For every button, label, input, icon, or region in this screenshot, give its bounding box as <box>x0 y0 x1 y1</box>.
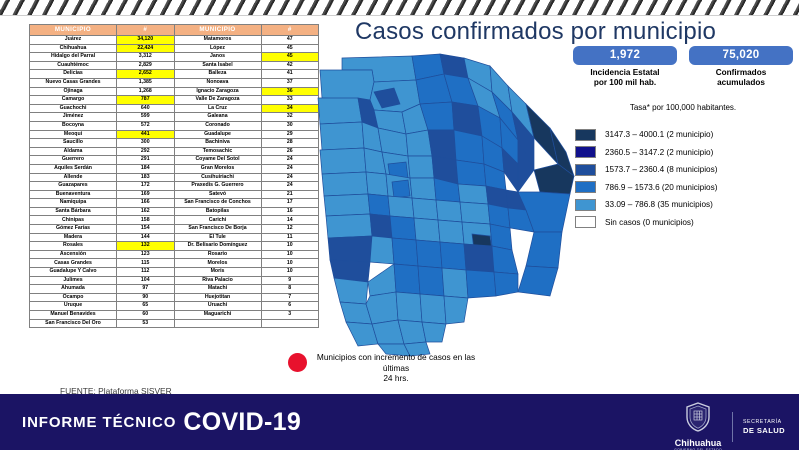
table-row: Gómez Farías154San Francisco De Borja12 <box>30 225 319 234</box>
map-region <box>466 270 496 298</box>
legend-label: 1573.7 – 2360.4 (8 municipios) <box>605 165 717 174</box>
cell-municipio-left: Allende <box>30 173 117 182</box>
cell-municipio-left: Cuauhtémoc <box>30 61 117 70</box>
cell-count-right: 16 <box>261 207 319 216</box>
map-region <box>518 266 558 296</box>
banner-title: INFORME TÉCNICOCOVID-19 <box>22 408 301 437</box>
table-row: Nuevo Casas Grandes1,385Nonoava37 <box>30 78 319 87</box>
cell-count-left: 300 <box>117 139 175 148</box>
cell-count-left: 154 <box>117 225 175 234</box>
cell-count-left: 787 <box>117 96 175 105</box>
cell-municipio-right: Coronado <box>174 121 261 130</box>
map-region <box>442 268 468 298</box>
table-row: Guadalupe Y Calvo112Moris10 <box>30 268 319 277</box>
cell-municipio-right: Batopilas <box>174 207 261 216</box>
cell-count-left: 115 <box>117 259 175 268</box>
cell-count-right: 8 <box>261 285 319 294</box>
map-region <box>456 160 486 186</box>
government-logo-group: Chihuahua GOBIERNO DEL ESTADO SECRETARÍA… <box>674 402 785 450</box>
cell-municipio-left: Chihuahua <box>30 44 117 53</box>
municipality-case-table: MUNICIPIO # MUNICIPIO # Juárez34,120Mata… <box>29 24 318 328</box>
cell-municipio-left: Hidalgo del Parral <box>30 53 117 62</box>
cell-municipio-right: Matamoros <box>174 36 261 45</box>
table-row: Julimes104Riva Palacio9 <box>30 276 319 285</box>
cell-municipio-right: Galeana <box>174 113 261 122</box>
cell-municipio-left: Guerrero <box>30 156 117 165</box>
cell-municipio-right: Matachi <box>174 285 261 294</box>
table-row: Jiménez599Galeana32 <box>30 113 319 122</box>
cell-municipio-left: Gómez Farías <box>30 225 117 234</box>
cell-municipio-right: Praxedis G. Guerrero <box>174 182 261 191</box>
map-region <box>394 264 420 294</box>
cell-count-right: 9 <box>261 276 319 285</box>
cell-count-left: 60 <box>117 311 175 320</box>
cell-municipio-right <box>174 319 261 328</box>
stat-confirmados: 75,020 Confirmados acumulados <box>689 46 793 88</box>
table-row: Guazapares172Praxedis G. Guerrero24 <box>30 182 319 191</box>
table-row: Uruque65Uruachi6 <box>30 302 319 311</box>
cell-count-left: 1,385 <box>117 78 175 87</box>
cell-count-right: 7 <box>261 293 319 302</box>
table-row: Juárez34,120Matamoros47 <box>30 36 319 45</box>
cell-municipio-left: Aquiles Serdán <box>30 164 117 173</box>
cell-municipio-left: Namiquipa <box>30 199 117 208</box>
column-header-municipio-right: MUNICIPIO <box>174 25 261 36</box>
cell-count-left: 158 <box>117 216 175 225</box>
cell-count-left: 441 <box>117 130 175 139</box>
column-header-municipio-left: MUNICIPIO <box>30 25 117 36</box>
stat-incidencia-value: 1,972 <box>573 46 677 65</box>
cell-municipio-right: Maguarichi <box>174 311 261 320</box>
cell-municipio-left: Aldama <box>30 147 117 156</box>
cell-municipio-left: Uruque <box>30 302 117 311</box>
cell-count-right: 17 <box>261 199 319 208</box>
map-region <box>410 178 436 200</box>
cell-count-left: 34,120 <box>117 36 175 45</box>
decorative-striped-ribbon <box>0 0 799 16</box>
map-region <box>326 214 372 238</box>
cell-municipio-left: Nuevo Casas Grandes <box>30 78 117 87</box>
cell-count-left: 2,829 <box>117 61 175 70</box>
cell-municipio-left: Juárez <box>30 36 117 45</box>
cell-count-right: 14 <box>261 216 319 225</box>
map-region <box>526 232 562 268</box>
stats-group: 1,972 Incidencia Estatal por 100 mil hab… <box>573 46 793 88</box>
cell-count-left: 640 <box>117 104 175 113</box>
cell-count-left: 104 <box>117 276 175 285</box>
cell-municipio-left: Ascensión <box>30 250 117 259</box>
cell-count-left: 90 <box>117 293 175 302</box>
table-row: Guachochi640La Cruz34 <box>30 104 319 113</box>
column-header-count-right: # <box>261 25 319 36</box>
cell-municipio-left: Santa Bárbara <box>30 207 117 216</box>
table-row: Ojinaga1,268Ignacio Zaragoza36 <box>30 87 319 96</box>
cell-count-left: 166 <box>117 199 175 208</box>
cell-municipio-right: San Francisco De Borja <box>174 225 261 234</box>
red-dot-icon <box>288 353 307 372</box>
map-region <box>328 236 372 262</box>
cell-count-left: 183 <box>117 173 175 182</box>
cell-count-left: 184 <box>117 164 175 173</box>
table-row: Bocoyna572Coronado30 <box>30 121 319 130</box>
cell-count-left: 65 <box>117 302 175 311</box>
table-row: Aquiles Serdán184Gran Morelos24 <box>30 164 319 173</box>
table-row: Allende183Cusihuiriachi24 <box>30 173 319 182</box>
cell-count-left: 169 <box>117 190 175 199</box>
map-region <box>366 292 398 324</box>
map-region <box>334 278 368 304</box>
cell-count-left: 162 <box>117 207 175 216</box>
table-row: Cuauhtémoc2,829Santa Isabel42 <box>30 61 319 70</box>
table-row: Chihuahua22,424López45 <box>30 44 319 53</box>
secretaria-line-1: SECRETARÍA <box>743 419 785 426</box>
map-region <box>322 172 368 196</box>
map-region <box>318 98 362 124</box>
map-region <box>416 240 442 268</box>
cell-count-left: 132 <box>117 242 175 251</box>
table-row: Namiquipa166San Francisco de Conchos17 <box>30 199 319 208</box>
table-row: Ocampo90Huejotitan7 <box>30 293 319 302</box>
cell-count-left: 1,268 <box>117 87 175 96</box>
cell-municipio-right: Guadalupe <box>174 130 261 139</box>
table-row: Santa Bárbara162Batopilas16 <box>30 207 319 216</box>
table-row: Aldama292Temosachic26 <box>30 147 319 156</box>
cell-count-right: 34 <box>261 104 319 113</box>
map-region <box>406 130 432 156</box>
cell-municipio-right: Uruachi <box>174 302 261 311</box>
table: MUNICIPIO # MUNICIPIO # Juárez34,120Mata… <box>29 24 319 328</box>
cell-count-right: 41 <box>261 70 319 79</box>
cell-count-left: 291 <box>117 156 175 165</box>
cell-municipio-right: Satevó <box>174 190 261 199</box>
increment-note: Municipios con incremento de casos en la… <box>288 352 482 384</box>
table-row: Meoqui441Guadalupe29 <box>30 130 319 139</box>
legend-label: Sin casos (0 municipios) <box>605 218 694 227</box>
logo-divider <box>732 412 733 442</box>
cell-count-right: 6 <box>261 302 319 311</box>
table-row: Camargo787Valle De Zaragoza33 <box>30 96 319 105</box>
banner-title-big: COVID-19 <box>183 408 301 436</box>
cell-municipio-left: Guazapares <box>30 182 117 191</box>
rate-footnote: Tasa* por 100,000 habitantes. <box>573 103 793 112</box>
table-header-row: MUNICIPIO # MUNICIPIO # <box>30 25 319 36</box>
map-region <box>458 184 488 204</box>
bottom-banner: INFORME TÉCNICOCOVID-19 Chihuahua GOBIER… <box>0 394 799 450</box>
cell-count-right: 24 <box>261 182 319 191</box>
stat-confirmados-value: 75,020 <box>689 46 793 65</box>
cell-count-right: 12 <box>261 225 319 234</box>
cell-municipio-right: Dr. Belisario Domínguez <box>174 242 261 251</box>
stat-confirmados-caption-2: acumulados <box>689 78 793 88</box>
chihuahua-shield-logo: Chihuahua GOBIERNO DEL ESTADO <box>674 402 722 450</box>
table-row: San Francisco Del Oro53 <box>30 319 319 328</box>
map-region <box>366 172 388 196</box>
map-region <box>320 148 366 174</box>
cell-municipio-right: El Tule <box>174 233 261 242</box>
cell-count-right: 10 <box>261 242 319 251</box>
cell-count-left: 53 <box>117 319 175 328</box>
map-region <box>414 218 440 242</box>
cell-count-right: 26 <box>261 147 319 156</box>
map-region <box>324 194 370 216</box>
cell-municipio-right: Bachiniva <box>174 139 261 148</box>
legend-item: 33.09 – 786.8 (35 municipios) <box>575 196 717 214</box>
cell-municipio-left: Saucillo <box>30 139 117 148</box>
cell-municipio-left: Bocoyna <box>30 121 117 130</box>
table-row: Ascensión123Rosario10 <box>30 250 319 259</box>
cell-count-right: 3 <box>261 311 319 320</box>
stat-incidencia: 1,972 Incidencia Estatal por 100 mil hab… <box>573 46 677 88</box>
cell-count-right: 10 <box>261 268 319 277</box>
cell-municipio-left: Meoqui <box>30 130 117 139</box>
cell-count-left: 172 <box>117 182 175 191</box>
cell-count-left: 22,424 <box>117 44 175 53</box>
cell-municipio-left: Camargo <box>30 96 117 105</box>
table-row: Madera144El Tule11 <box>30 233 319 242</box>
cell-municipio-right: López <box>174 44 261 53</box>
cell-municipio-left: Guachochi <box>30 104 117 113</box>
map-region <box>418 266 444 296</box>
cell-count-left: 144 <box>117 233 175 242</box>
map-region <box>388 196 414 218</box>
banner-title-small: INFORME TÉCNICO <box>22 414 176 431</box>
cell-municipio-right: Moris <box>174 268 261 277</box>
cell-municipio-left: Manuel Benavides <box>30 311 117 320</box>
map-region <box>438 220 464 244</box>
cell-count-left: 123 <box>117 250 175 259</box>
map-region <box>370 214 392 238</box>
cell-municipio-left: Chinipas <box>30 216 117 225</box>
map-region <box>440 242 466 270</box>
stat-incidencia-caption-2: por 100 mil hab. <box>573 78 677 88</box>
map-region <box>422 322 446 342</box>
cell-count-right: 45 <box>261 44 319 53</box>
cell-count-right: 24 <box>261 173 319 182</box>
stat-incidencia-caption-1: Incidencia Estatal <box>573 68 677 78</box>
cell-count-right: 45 <box>261 53 319 62</box>
cell-municipio-right: Coyame Del Sotol <box>174 156 261 165</box>
cell-municipio-right: Janos <box>174 53 261 62</box>
cell-count-left: 97 <box>117 285 175 294</box>
cell-municipio-right: Gran Morelos <box>174 164 261 173</box>
cell-municipio-right: Nonoava <box>174 78 261 87</box>
map-region <box>392 180 410 198</box>
cell-municipio-right: Morelos <box>174 259 261 268</box>
cell-count-right: 28 <box>261 139 319 148</box>
table-body: Juárez34,120Matamoros47Chihuahua22,424Ló… <box>30 36 319 328</box>
map-legend: 3147.3 – 4000.1 (2 municipio)2360.5 – 31… <box>575 126 717 231</box>
cell-count-left: 292 <box>117 147 175 156</box>
cell-municipio-left: Buenaventura <box>30 190 117 199</box>
map-region <box>464 244 494 272</box>
cell-municipio-right: Carichi <box>174 216 261 225</box>
cell-municipio-left: Guadalupe Y Calvo <box>30 268 117 277</box>
cell-count-right: 36 <box>261 87 319 96</box>
map-region <box>408 156 434 178</box>
cell-municipio-left: Delicias <box>30 70 117 79</box>
cell-municipio-right: Huejotitan <box>174 293 261 302</box>
cell-municipio-left: Ahumada <box>30 285 117 294</box>
cell-municipio-right: Ignacio Zaragoza <box>174 87 261 96</box>
cell-count-left: 3,312 <box>117 53 175 62</box>
map-region <box>436 200 462 222</box>
table-row: Guerrero291Coyame Del Sotol24 <box>30 156 319 165</box>
table-row: Delicias2,652Balleza41 <box>30 70 319 79</box>
cell-municipio-right: Riva Palacio <box>174 276 261 285</box>
shield-logo-name: Chihuahua <box>674 438 722 448</box>
cell-count-right: 47 <box>261 36 319 45</box>
cell-municipio-left: Ocampo <box>30 293 117 302</box>
cell-municipio-left: San Francisco Del Oro <box>30 319 117 328</box>
map-region <box>420 294 446 324</box>
table-row: Saucillo300Bachiniva28 <box>30 139 319 148</box>
secretaria-de-salud-logo: SECRETARÍA DE SALUD <box>743 419 785 435</box>
map-region <box>370 236 394 264</box>
map-region <box>494 272 518 296</box>
cell-municipio-left: Jiménez <box>30 113 117 122</box>
cell-count-right: 30 <box>261 121 319 130</box>
table-row: Rosales132Dr. Belisario Domínguez10 <box>30 242 319 251</box>
table-row: Casas Grandes115Morelos10 <box>30 259 319 268</box>
cell-municipio-right: La Cruz <box>174 104 261 113</box>
table-row: Hidalgo del Parral3,312Janos45 <box>30 53 319 62</box>
cell-count-right <box>261 319 319 328</box>
cell-count-left: 599 <box>117 113 175 122</box>
map-region <box>460 202 490 224</box>
column-header-count-left: # <box>117 25 175 36</box>
chihuahua-choropleth-map <box>312 52 584 360</box>
map-region <box>412 198 438 220</box>
cell-count-right: 24 <box>261 156 319 165</box>
page-title: Casos confirmados por municipio <box>355 18 716 46</box>
legend-item: 2360.5 – 3147.2 (2 municipio) <box>575 144 717 162</box>
cell-municipio-right: San Francisco de Conchos <box>174 199 261 208</box>
cell-count-right: 32 <box>261 113 319 122</box>
legend-label: 2360.5 – 3147.2 (2 municipio) <box>605 148 713 157</box>
cell-municipio-left: Casas Grandes <box>30 259 117 268</box>
increment-note-line-2: 24 hrs. <box>310 373 482 384</box>
secretaria-line-2: DE SALUD <box>743 426 785 435</box>
legend-item: Sin casos (0 municipios) <box>575 214 717 232</box>
cell-count-right: 29 <box>261 130 319 139</box>
map-region <box>428 130 456 160</box>
cell-count-right: 42 <box>261 61 319 70</box>
cell-municipio-right: Temosachic <box>174 147 261 156</box>
cell-municipio-right: Valle De Zaragoza <box>174 96 261 105</box>
map-region <box>396 292 422 322</box>
legend-item: 1573.7 – 2360.4 (8 municipios) <box>575 161 717 179</box>
legend-label: 786.9 – 1573.6 (20 municipios) <box>605 183 717 192</box>
shield-icon <box>685 402 711 432</box>
legend-item: 3147.3 – 4000.1 (2 municipio) <box>575 126 717 144</box>
cell-count-left: 572 <box>117 121 175 130</box>
cell-count-right: 24 <box>261 164 319 173</box>
cell-municipio-right: Cusihuiriachi <box>174 173 261 182</box>
cell-municipio-right: Rosario <box>174 250 261 259</box>
map-region <box>492 246 518 274</box>
cell-municipio-right: Santa Isabel <box>174 61 261 70</box>
map-region <box>320 122 364 150</box>
map-region <box>368 194 390 216</box>
map-region <box>444 296 468 324</box>
table-row: Manuel Benavides60Maguarichi3 <box>30 311 319 320</box>
cell-count-left: 2,652 <box>117 70 175 79</box>
cell-count-right: 33 <box>261 96 319 105</box>
table-row: Chinipas158Carichi14 <box>30 216 319 225</box>
table-row: Ahumada97Matachi8 <box>30 285 319 294</box>
cell-municipio-left: Madera <box>30 233 117 242</box>
table-row: Buenaventura169Satevó21 <box>30 190 319 199</box>
cell-count-right: 10 <box>261 259 319 268</box>
map-region <box>392 238 418 266</box>
cell-municipio-right: Balleza <box>174 70 261 79</box>
legend-label: 3147.3 – 4000.1 (2 municipio) <box>605 130 713 139</box>
legend-label: 33.09 – 786.8 (35 municipios) <box>605 200 713 209</box>
map-region <box>390 216 416 240</box>
cell-count-left: 112 <box>117 268 175 277</box>
cell-municipio-left: Ojinaga <box>30 87 117 96</box>
increment-note-line-1: Municipios con incremento de casos en la… <box>310 352 482 373</box>
legend-item: 786.9 – 1573.6 (20 municipios) <box>575 179 717 197</box>
cell-count-right: 21 <box>261 190 319 199</box>
stat-confirmados-caption-1: Confirmados <box>689 68 793 78</box>
map-region <box>320 70 374 100</box>
cell-municipio-left: Julimes <box>30 276 117 285</box>
cell-count-right: 10 <box>261 250 319 259</box>
map-region <box>368 264 396 296</box>
cell-municipio-left: Rosales <box>30 242 117 251</box>
cell-count-right: 11 <box>261 233 319 242</box>
cell-count-right: 37 <box>261 78 319 87</box>
